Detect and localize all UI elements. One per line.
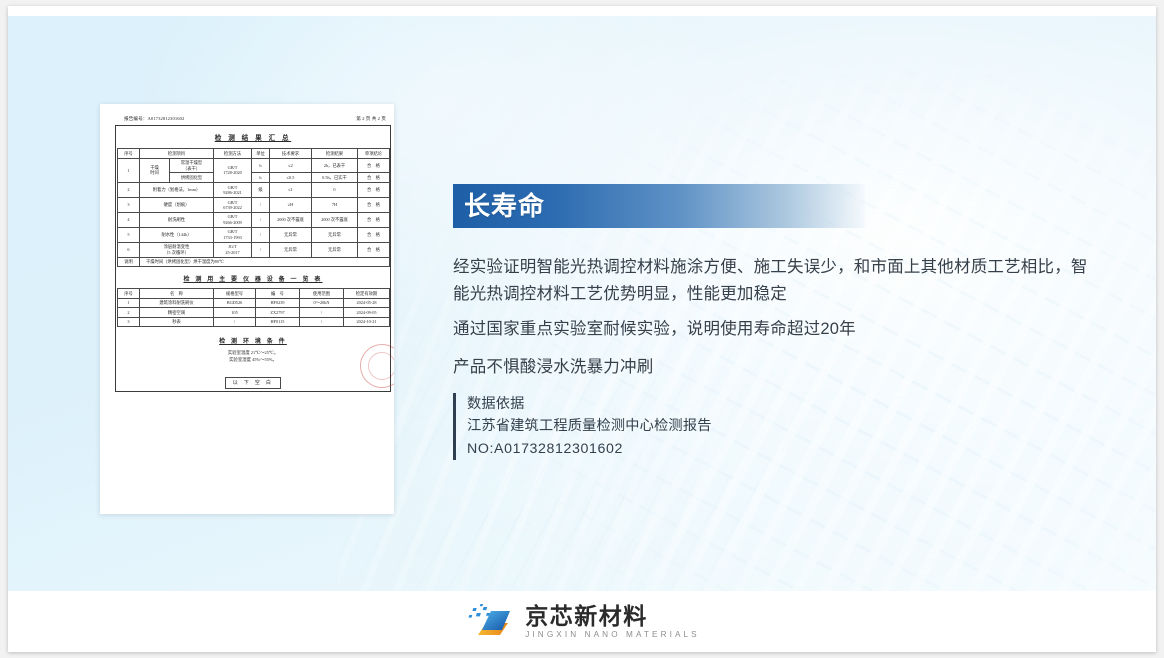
- cell-name: 精密空调: [140, 308, 214, 318]
- cell-range: /: [300, 317, 344, 327]
- col-header: 规格型号: [214, 289, 256, 299]
- cell-no: 2: [118, 183, 140, 198]
- cell-method: GB/T9266-2009: [214, 212, 252, 227]
- cell-result: 无异常: [312, 242, 358, 257]
- results-table-title: 检 测 结 果 汇 总: [116, 126, 390, 148]
- table-row: 3秒表/HF0115/2024-10-21: [118, 317, 390, 327]
- cell-result: 2h，已表干: [312, 158, 358, 173]
- table-row: 1建筑涂料耐洗刷仪BGD526HF02390～20kN2024-05-28: [118, 298, 390, 308]
- environment-section: 检 测 环 境 条 件 实验室温度 21℃～25℃。 实验室湿度 45%～55%…: [116, 327, 390, 389]
- page-title: 长寿命: [453, 193, 545, 219]
- cell-code: ZX2797: [256, 308, 300, 318]
- instrument-table: 序号名 称规格型号编 号使用范围检定有效期 1建筑涂料耐洗刷仪BGD526HF0…: [117, 288, 390, 327]
- cell-conclusion: 合 格: [358, 158, 390, 173]
- cell-conclusion: 合 格: [358, 173, 390, 183]
- environment-title: 检 测 环 境 条 件: [116, 336, 390, 345]
- cell-conclusion: 合 格: [358, 183, 390, 198]
- cell-method: JG/T25-2017: [214, 242, 252, 257]
- slide-canvas: 报告编号：A01732812301602 第 2 页 共 2 页 检 测 结 果…: [8, 16, 1156, 591]
- source-label: 数据依据: [467, 393, 712, 415]
- logo-name-cn: 京芯新材料: [525, 604, 700, 629]
- cell-unit: /: [252, 242, 270, 257]
- slide: 报告编号：A01732812301602 第 2 页 共 2 页 检 测 结 果…: [8, 6, 1156, 652]
- logo-name-en: JINGXIN NANO MATERIALS: [525, 630, 700, 639]
- cell-conclusion: 合 格: [358, 242, 390, 257]
- cell-unit: /: [252, 212, 270, 227]
- cell-valid: 2024-05-28: [344, 298, 390, 308]
- cell-result: 0.5h，已实干: [312, 173, 358, 183]
- cell-code: HF0115: [256, 317, 300, 327]
- cell-item: 耐洗刷性: [140, 212, 214, 227]
- report-header: 报告编号：A01732812301602 第 2 页 共 2 页: [114, 112, 392, 125]
- col-header: 检测方法: [214, 149, 252, 159]
- cell-method: GB/T9286-2021: [214, 183, 252, 198]
- cell-item: 涂层耐温变性（5 次循环）: [140, 242, 214, 257]
- cell-code: HF0239: [256, 298, 300, 308]
- cell-model: /: [214, 317, 256, 327]
- table-row: 4耐洗刷性GB/T9266-2009/2000 次不露底2000 次不露底合 格: [118, 212, 390, 227]
- cell-result: 无异常: [312, 227, 358, 242]
- cell-method: GB/T6739-2022: [214, 197, 252, 212]
- cell-result: 0: [312, 183, 358, 198]
- table-row: 3硬度（划痕）GB/T6739-2022/≥H7H合 格: [118, 197, 390, 212]
- cell-item: 附着力（划格法，1mm）: [140, 183, 214, 198]
- cell-range: 0～20kN: [300, 298, 344, 308]
- cell-conclusion: 合 格: [358, 227, 390, 242]
- content-column: 长寿命 经实验证明智能光热调控材料施涂方便、施工失误少，和市面上其他材质工艺相比…: [453, 16, 1143, 591]
- cell-range: /: [300, 308, 344, 318]
- col-header: 使用范围: [300, 289, 344, 299]
- cell-no: 2: [118, 308, 140, 318]
- environment-humidity: 实验室湿度 45%～55%。: [116, 357, 390, 364]
- body-paragraph-2: 通过国家重点实验室耐候实验，说明使用寿命超过20年: [453, 316, 1093, 343]
- results-table-header-row: 序号检测项目检测方法单位技术要求检测结果单项结论: [118, 149, 390, 159]
- instrument-table-header-row: 序号名 称规格型号编 号使用范围检定有效期: [118, 289, 390, 299]
- col-header: 技术要求: [270, 149, 312, 159]
- cell-no: 4: [118, 212, 140, 227]
- col-header: 单项结论: [358, 149, 390, 159]
- cell-no: 3: [118, 197, 140, 212]
- cell-unit: /: [252, 197, 270, 212]
- report-page: 报告编号：A01732812301602 第 2 页 共 2 页 检 测 结 果…: [114, 112, 392, 508]
- cell-unit: /: [252, 227, 270, 242]
- table-row: 1干燥时间常温干燥型（表干）GB/T1728-2020h≤22h，已表干合 格: [118, 158, 390, 173]
- col-header: 检测结果: [312, 149, 358, 159]
- col-header: 单位: [252, 149, 270, 159]
- col-header: 检定有效期: [344, 289, 390, 299]
- col-header: 编 号: [256, 289, 300, 299]
- cell-no: 3: [118, 317, 140, 327]
- cell-name: 建筑涂料耐洗刷仪: [140, 298, 214, 308]
- cell-model: BGD526: [214, 298, 256, 308]
- section-title-banner: 长寿命: [453, 184, 865, 228]
- results-table-body: 1干燥时间常温干燥型（表干）GB/T1728-2020h≤22h，已表干合 格烘…: [118, 158, 390, 267]
- cell-requirement: ≤1: [270, 183, 312, 198]
- cell-unit: h: [252, 158, 270, 173]
- cell-conclusion: 合 格: [358, 212, 390, 227]
- cell-name: 秒表: [140, 317, 214, 327]
- cell-no: 6: [118, 242, 140, 257]
- cell-requirement: ≥H: [270, 197, 312, 212]
- cell-requirement: 2000 次不露底: [270, 212, 312, 227]
- cell-method: GB/T1728-2020: [214, 158, 252, 182]
- cell-no: 5: [118, 227, 140, 242]
- cell-no: 1: [118, 158, 140, 182]
- table-row: 2精密空调105ZX2797/2024-09-05: [118, 308, 390, 318]
- report-body-box: 检 测 结 果 汇 总 序号检测项目检测方法单位技术要求检测结果单项结论 1干燥…: [115, 125, 391, 392]
- logo-text: 京芯新材料 JINGXIN NANO MATERIALS: [525, 604, 700, 640]
- col-header: 序号: [118, 289, 140, 299]
- cell-result: 2000 次不露底: [312, 212, 358, 227]
- logo-mark-icon: [464, 602, 514, 642]
- body-paragraph-3: 产品不惧酸浸水洗暴力冲刷: [453, 354, 1093, 381]
- report-number: 报告编号：A01732812301602: [124, 116, 184, 122]
- cell-subitem: 烘烤固化型: [170, 173, 214, 183]
- cell-result: 7H: [312, 197, 358, 212]
- cell-model: 105: [214, 308, 256, 318]
- company-logo: 京芯新材料 JINGXIN NANO MATERIALS: [464, 602, 700, 642]
- table-note-row: 说明干燥时间（烘烤固化型）烘干温度为80℃: [118, 257, 390, 267]
- test-report-document[interactable]: 报告编号：A01732812301602 第 2 页 共 2 页 检 测 结 果…: [100, 104, 394, 514]
- instrument-table-body: 1建筑涂料耐洗刷仪BGD526HF02390～20kN2024-05-282精密…: [118, 298, 390, 327]
- table-row: 2附着力（划格法，1mm）GB/T9286-2021级≤10合 格: [118, 183, 390, 198]
- source-organization: 江苏省建筑工程质量检测中心检测报告: [467, 415, 712, 437]
- report-page-indicator: 第 2 页 共 2 页: [356, 116, 386, 122]
- slide-footer: 京芯新材料 JINGXIN NANO MATERIALS: [8, 591, 1156, 652]
- col-header: 名 称: [140, 289, 214, 299]
- cell-requirement: ≤2: [270, 158, 312, 173]
- table-row: 6涂层耐温变性（5 次循环）JG/T25-2017/无异常无异常合 格: [118, 242, 390, 257]
- cell-method: GB/T1733-1993: [214, 227, 252, 242]
- cell-no: 1: [118, 298, 140, 308]
- note-text: 干燥时间（烘烤固化型）烘干温度为80℃: [140, 257, 390, 267]
- instrument-table-title: 检 测 用 主 要 仪 器 设 备 一 览 表: [116, 267, 390, 288]
- source-report-number: NO:A01732812301602: [467, 438, 712, 460]
- cell-valid: 2024-09-05: [344, 308, 390, 318]
- cell-item: 干燥时间: [140, 158, 170, 182]
- blank-below-mark: 以 下 空 白: [225, 377, 282, 389]
- cell-conclusion: 合 格: [358, 197, 390, 212]
- cell-item: 耐水性（144h）: [140, 227, 214, 242]
- cell-unit: h: [252, 173, 270, 183]
- cell-valid: 2024-10-21: [344, 317, 390, 327]
- cell-requirement: 无异常: [270, 242, 312, 257]
- source-note: 数据依据 江苏省建筑工程质量检测中心检测报告 NO:A0173281230160…: [453, 393, 712, 460]
- cell-requirement: 无异常: [270, 227, 312, 242]
- cell-requirement: ≤0.5: [270, 173, 312, 183]
- cell-item: 硬度（划痕）: [140, 197, 214, 212]
- note-label: 说明: [118, 257, 140, 267]
- results-table: 序号检测项目检测方法单位技术要求检测结果单项结论 1干燥时间常温干燥型（表干）G…: [117, 148, 390, 267]
- cell-subitem: 常温干燥型（表干）: [170, 158, 214, 173]
- cell-unit: 级: [252, 183, 270, 198]
- body-paragraph-1: 经实验证明智能光热调控材料施涂方便、施工失误少，和市面上其他材质工艺相比，智能光…: [453, 254, 1093, 307]
- table-row: 5耐水性（144h）GB/T1733-1993/无异常无异常合 格: [118, 227, 390, 242]
- col-header: 序号: [118, 149, 140, 159]
- col-header: 检测项目: [140, 149, 214, 159]
